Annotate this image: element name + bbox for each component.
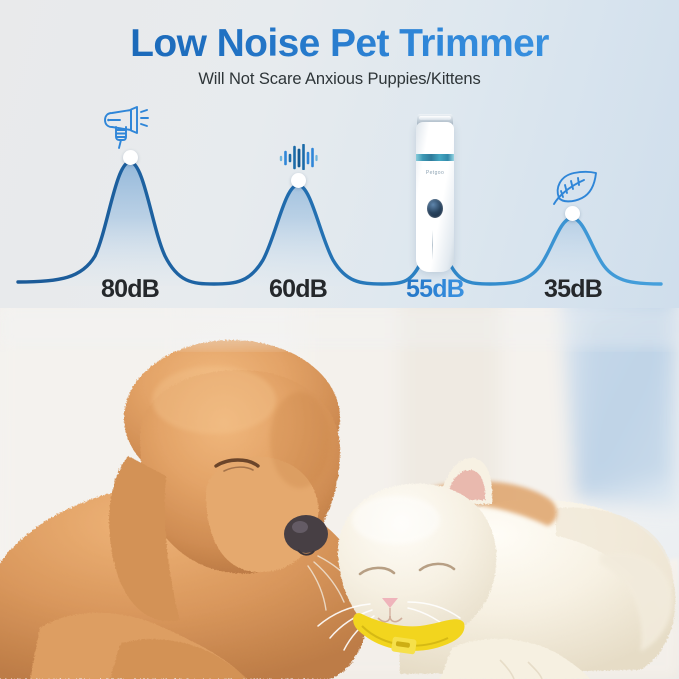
db-label-35: 35dB	[513, 275, 633, 304]
trimmer-body	[416, 122, 454, 272]
trimmer-accent-stripe	[416, 154, 454, 161]
db-label-60: 60dB	[238, 275, 358, 304]
trimmer-power-button	[427, 199, 443, 218]
page-subtitle: Will Not Scare Anxious Puppies/Kittens	[0, 70, 679, 89]
noise-comparison-infographic: Low Noise Pet Trimmer Will Not Scare Anx…	[0, 0, 679, 312]
hair-dryer-icon	[104, 104, 158, 150]
sound-wave-icon	[279, 144, 318, 170]
trimmer-brand-text: Petgoo	[412, 170, 458, 176]
peak-dot-60db	[291, 173, 306, 188]
page-title: Low Noise Pet Trimmer	[0, 22, 679, 66]
peak-dot-35db	[565, 206, 580, 221]
leaf-icon	[550, 168, 600, 208]
db-label-80: 80dB	[70, 275, 190, 304]
pets-photo	[0, 308, 679, 679]
trimmer-seam	[432, 230, 433, 260]
peak-dot-80db	[123, 150, 138, 165]
product-infographic-page: Low Noise Pet Trimmer Will Not Scare Anx…	[0, 0, 679, 679]
pet-trimmer-product: Petgoo	[412, 108, 458, 273]
db-label-55: 55dB	[375, 275, 495, 304]
